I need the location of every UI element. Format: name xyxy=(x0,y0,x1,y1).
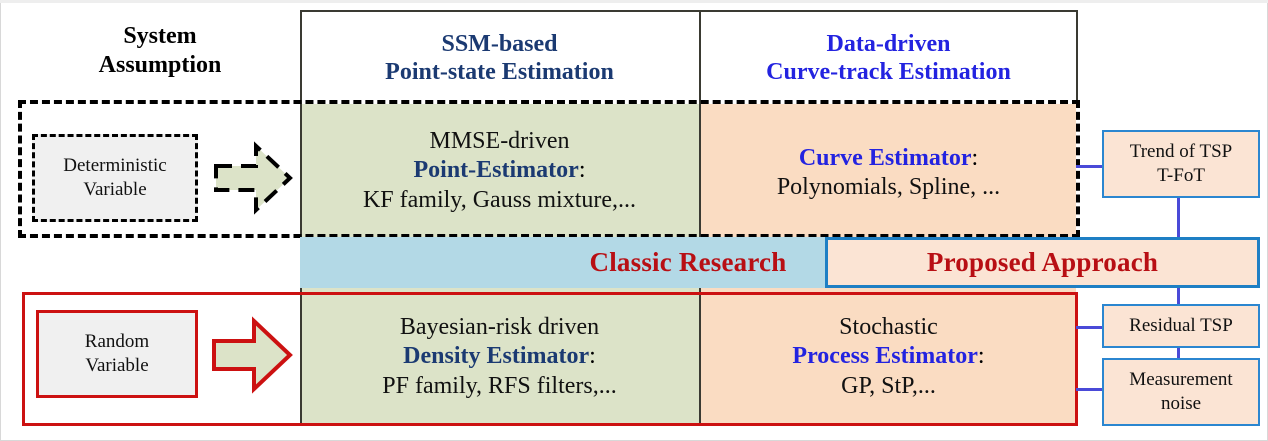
ssm-rnd-line2: Density Estimator: xyxy=(403,342,596,371)
connector-measnoise-horizontal xyxy=(1076,388,1102,391)
cell-text-data-random: Stochastic Process Estimator: GP, StP,..… xyxy=(701,292,1076,422)
ssm-rnd-line3: PF family, RFS filters,... xyxy=(382,372,616,401)
connector-residual-horizontal xyxy=(1076,326,1102,329)
cell-text-ssm-deterministic: MMSE-driven Point-Estimator: KF family, … xyxy=(300,106,699,236)
trend-line2: T-FoT xyxy=(1157,164,1205,188)
right-arrow-dashed-icon xyxy=(210,136,296,220)
data-rnd-line1: Stochastic xyxy=(839,313,938,342)
side-box-measurement-noise[interactable]: Measurement noise xyxy=(1102,358,1260,426)
table-right-border xyxy=(1076,10,1078,104)
ssm-det-line3: KF family, Gauss mixture,... xyxy=(363,186,636,215)
data-det-line2-bold: Curve Estimator xyxy=(799,145,972,171)
right-arrow-red-icon xyxy=(208,313,296,397)
data-rnd-line2-suffix: : xyxy=(978,343,985,369)
deterministic-line1: Deterministic xyxy=(63,154,166,178)
ssm-det-line2-suffix: : xyxy=(579,157,586,183)
data-rnd-line2: Process Estimator: xyxy=(792,342,984,371)
side-box-trend-of-tsp[interactable]: Trend of TSP T-FoT xyxy=(1102,130,1260,198)
header-ssm-line2: Point-state Estimation xyxy=(385,58,614,86)
data-rnd-line3: GP, StP,... xyxy=(841,372,936,401)
header-ssm: SSM-based Point-state Estimation xyxy=(300,12,699,104)
top-strip xyxy=(0,0,1268,3)
deterministic-line2: Variable xyxy=(83,178,146,202)
header-data-line2: Curve-track Estimation xyxy=(766,58,1011,86)
ssm-rnd-line2-suffix: : xyxy=(589,343,596,369)
connector-trend-to-proposed xyxy=(1177,198,1180,238)
trend-line1: Trend of TSP xyxy=(1130,140,1232,164)
header-data-line1: Data-driven xyxy=(827,30,951,58)
proposed-approach-box[interactable]: Proposed Approach xyxy=(825,237,1260,288)
ssm-rnd-line1: Bayesian-risk driven xyxy=(400,313,599,342)
system-assumption-line1: System xyxy=(40,22,280,51)
measnoise-line1: Measurement xyxy=(1129,368,1232,392)
cell-text-ssm-random: Bayesian-risk driven Density Estimator: … xyxy=(300,292,699,422)
measnoise-line2: noise xyxy=(1161,392,1201,416)
data-det-line2-suffix: : xyxy=(971,145,978,171)
connector-trend-horizontal xyxy=(1076,165,1102,168)
random-line2: Variable xyxy=(85,354,148,378)
proposed-approach-label: Proposed Approach xyxy=(927,247,1158,278)
cell-text-data-deterministic: Curve Estimator: Polynomials, Spline, ..… xyxy=(701,118,1076,228)
ssm-det-line2-bold: Point-Estimator xyxy=(414,157,579,183)
classic-research-label: Classic Research xyxy=(590,247,787,278)
ssm-det-line1: MMSE-driven xyxy=(430,127,570,156)
random-variable-box: Random Variable xyxy=(36,310,198,398)
data-det-line3: Polynomials, Spline, ... xyxy=(777,173,1000,202)
system-assumption-line2: Assumption xyxy=(40,51,280,80)
deterministic-variable-box: Deterministic Variable xyxy=(32,134,198,222)
diagram-canvas: SSM-based Point-state Estimation Data-dr… xyxy=(0,0,1268,441)
data-rnd-line2-bold: Process Estimator xyxy=(792,343,978,369)
random-line1: Random xyxy=(85,330,149,354)
header-ssm-line1: SSM-based xyxy=(441,30,557,58)
side-box-residual-tsp[interactable]: Residual TSP xyxy=(1102,304,1260,348)
ssm-rnd-line2-bold: Density Estimator xyxy=(403,343,589,369)
header-data: Data-driven Curve-track Estimation xyxy=(701,12,1076,104)
residual-line1: Residual TSP xyxy=(1129,314,1233,338)
ssm-det-line2: Point-Estimator: xyxy=(414,156,586,185)
data-det-line2: Curve Estimator: xyxy=(799,144,978,173)
connector-proposed-to-residual xyxy=(1177,288,1180,304)
page-title-system-assumption: System Assumption xyxy=(40,22,280,80)
